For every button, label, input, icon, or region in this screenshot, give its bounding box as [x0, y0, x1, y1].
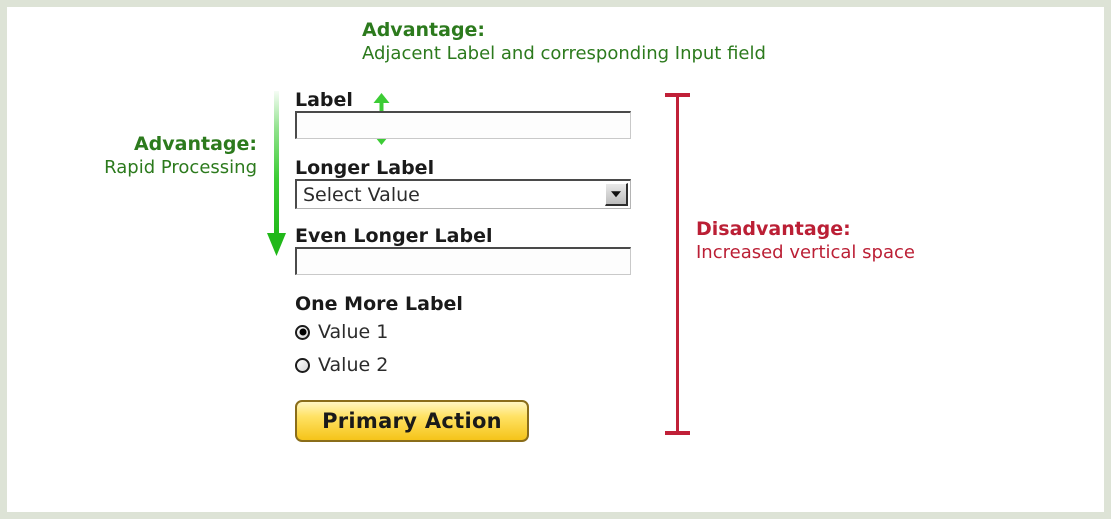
red-measure-bracket-icon — [662, 93, 692, 435]
select-selected-value: Select Value — [303, 183, 420, 207]
select-longer-label[interactable]: Select Value — [295, 179, 631, 209]
field-label-even-longer-label: Even Longer Label — [295, 225, 635, 247]
text-input-even-longer-label[interactable] — [295, 247, 631, 275]
radio-icon-unchecked[interactable] — [295, 358, 310, 373]
annotation-right-title: Disadvantage: — [696, 218, 915, 241]
form-field-one-more-label: One More Label Value 1 Value 2 — [295, 293, 635, 378]
form-field-longer-label: Longer Label Select Value — [295, 157, 635, 209]
radio-label-value-2: Value 2 — [318, 354, 388, 376]
annotation-top-subtitle: Adjacent Label and corresponding Input f… — [362, 42, 766, 65]
radio-option-value-2[interactable]: Value 2 — [295, 352, 635, 378]
green-down-arrow-icon — [265, 91, 289, 257]
diagram-canvas: Advantage: Adjacent Label and correspond… — [0, 0, 1111, 519]
annotation-left-advantage: Advantage: Rapid Processing — [7, 133, 257, 179]
chevron-down-icon[interactable] — [605, 183, 628, 206]
text-input-label[interactable] — [295, 111, 631, 139]
radio-icon-checked[interactable] — [295, 325, 310, 340]
field-label-text: Label — [295, 89, 635, 111]
annotation-top-title: Advantage: — [362, 19, 766, 42]
radio-option-value-1[interactable]: Value 1 — [295, 319, 635, 345]
annotation-top-advantage: Advantage: Adjacent Label and correspond… — [362, 19, 766, 65]
annotation-left-subtitle: Rapid Processing — [7, 156, 257, 179]
form-field-even-longer-label: Even Longer Label — [295, 225, 635, 275]
field-label-longer-label: Longer Label — [295, 157, 635, 179]
form-field-label: Label — [295, 89, 635, 139]
field-label-one-more-label: One More Label — [295, 293, 635, 315]
annotation-left-title: Advantage: — [7, 133, 257, 156]
primary-action-button[interactable]: Primary Action — [295, 400, 529, 442]
annotation-right-disadvantage: Disadvantage: Increased vertical space — [696, 218, 915, 264]
radio-label-value-1: Value 1 — [318, 321, 388, 343]
annotation-right-subtitle: Increased vertical space — [696, 241, 915, 264]
vertical-form: Label Longer Label Select Value Even Lon… — [295, 89, 635, 442]
